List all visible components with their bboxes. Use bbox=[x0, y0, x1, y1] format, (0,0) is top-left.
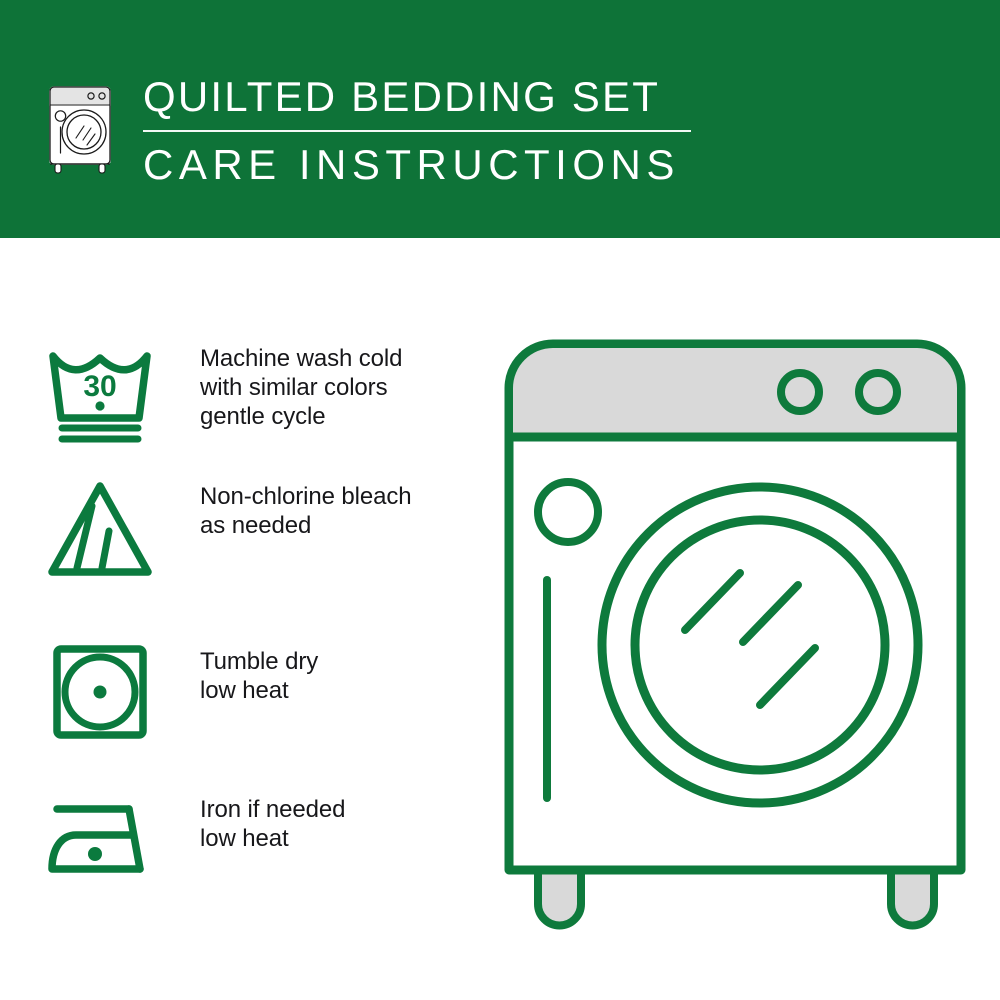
front-load-washing-machine-illustration bbox=[495, 330, 975, 930]
non-chlorine-bleach-symbol bbox=[45, 478, 165, 588]
care-row-dry: Tumble dry low heat bbox=[0, 643, 500, 753]
care-instructions-list: 30 Machine wash cold with similar colors… bbox=[0, 238, 500, 1000]
machine-wash-cold-symbol: 30 bbox=[45, 340, 165, 450]
care-text-iron: Iron if needed low heat bbox=[200, 791, 345, 853]
iron-low-heat-symbol bbox=[45, 791, 165, 901]
care-row-bleach: Non-chlorine bleach as needed bbox=[0, 478, 500, 588]
care-row-wash: 30 Machine wash cold with similar colors… bbox=[0, 340, 500, 450]
leg-right bbox=[891, 870, 934, 926]
care-instructions-infographic: QUILTED BEDDING SET CARE INSTRUCTIONS 30 bbox=[0, 0, 1000, 1000]
header-text-block: QUILTED BEDDING SET CARE INSTRUCTIONS bbox=[143, 72, 703, 189]
care-text-dry: Tumble dry low heat bbox=[200, 643, 318, 705]
washing-machine-icon bbox=[45, 68, 123, 176]
care-row-iron: Iron if needed low heat bbox=[0, 791, 500, 901]
leg-left bbox=[538, 870, 581, 926]
header-band: QUILTED BEDDING SET CARE INSTRUCTIONS bbox=[0, 0, 1000, 238]
title-divider bbox=[143, 130, 691, 132]
wash-temperature-label: 30 bbox=[83, 370, 116, 403]
page-title: QUILTED BEDDING SET bbox=[143, 72, 703, 122]
tumble-dry-low-heat-symbol bbox=[45, 643, 165, 753]
care-text-bleach: Non-chlorine bleach as needed bbox=[200, 478, 412, 540]
care-text-wash: Machine wash cold with similar colors ge… bbox=[200, 340, 402, 431]
page-subtitle: CARE INSTRUCTIONS bbox=[143, 141, 703, 189]
control-panel bbox=[513, 348, 957, 437]
